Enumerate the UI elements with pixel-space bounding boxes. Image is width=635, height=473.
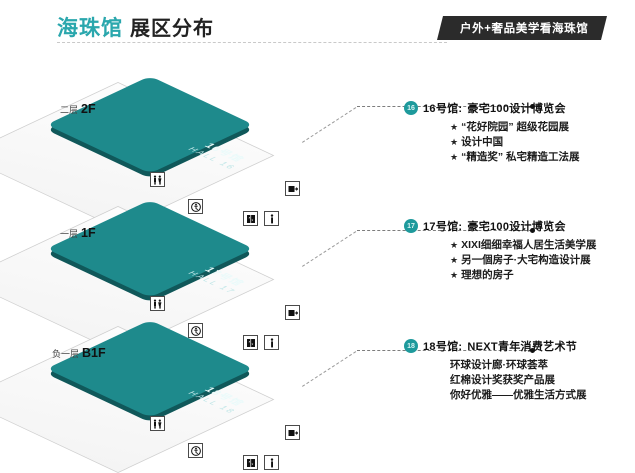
hall-legend-item-16[interactable]: 16 16号馆: 豪宅100设计博览会 ★“花好院园” 超级花园展 ★设计中国 … [404, 100, 635, 165]
hall-legend-header: 18 18号馆: NEXT青年消费艺术节 [404, 338, 635, 354]
star-icon: ★ [450, 152, 458, 162]
hall-exhibit-list: ★XIXI细细幸福人居生活美学展 ★另一個房子·大宅构造设计展 ★理想的房子 [450, 238, 635, 283]
hall-legend-item-18[interactable]: 18 18号馆: NEXT青年消费艺术节 环球设计廊·环球荟萃 红棉设计奖获奖产… [404, 338, 635, 403]
list-item: ★“精造奖” 私宅精造工法展 [450, 150, 635, 165]
star-icon: ★ [450, 255, 458, 265]
hall-title-label: NEXT青年消费艺术节 [467, 338, 577, 354]
restroom-icon[interactable] [150, 416, 165, 431]
floor-tag-cn: 负一层 [52, 349, 79, 359]
list-item: 环球设计廊·环球荟萃 [450, 358, 635, 373]
page-title: 海珠馆 展区分布 [57, 12, 214, 42]
hall-legend-item-17[interactable]: 17 17号馆: 豪宅100设计博览会 ★XIXI细细幸福人居生活美学展 ★另一… [404, 218, 635, 283]
floor-tag-code: 1F [81, 226, 96, 240]
hall-number-label: 17号馆: [423, 218, 462, 234]
list-item-label: “精造奖” 私宅精造工法展 [461, 151, 579, 163]
floor-level-1f[interactable]: 17号馆 HALL 17 一层1F [0, 180, 400, 320]
list-item-label: 设计中国 [461, 136, 503, 148]
star-icon: ★ [450, 270, 458, 280]
leader-line-diagonal [302, 231, 356, 267]
information-icon[interactable] [264, 455, 279, 470]
floor-tag-1f: 一层1F [60, 226, 96, 240]
hall-exhibit-list: ★“花好院园” 超级花园展 ★设计中国 ★“精造奖” 私宅精造工法展 [450, 120, 635, 165]
star-icon: ★ [450, 137, 458, 147]
hall-number-badge: 17 [404, 219, 418, 233]
list-item-label: 理想的房子 [461, 269, 514, 281]
floor-tag-2f: 二层2F [60, 102, 96, 116]
page-title-venue: 海珠馆 [57, 12, 123, 42]
floor-tag-code: 2F [81, 102, 96, 116]
hall-legend-header: 17 17号馆: 豪宅100设计博览会 [404, 218, 635, 234]
floor-tag-code: B1F [82, 346, 106, 360]
hall-title-label: 豪宅100设计博览会 [467, 218, 565, 234]
accessible-icon[interactable] [188, 443, 203, 458]
hall-legend-header: 16 16号馆: 豪宅100设计博览会 [404, 100, 635, 116]
hall-number-badge: 18 [404, 339, 418, 353]
list-item: 红棉设计奖获奖产品展 [450, 373, 635, 388]
floor-diagram: 16号馆 HALL 16 二层2F 17号馆 [0, 52, 400, 430]
floor-tag-cn: 一层 [60, 229, 78, 239]
title-divider [57, 42, 447, 43]
elevator-icon[interactable] [243, 455, 258, 470]
floor-tag-b1f: 负一层B1F [52, 346, 106, 360]
floor-level-b1f[interactable]: 18号馆 HALL 18 负一层B1F [0, 300, 400, 440]
list-item-label: “花好院园” 超级花园展 [461, 121, 569, 133]
list-item: ★另一個房子·大宅构造设计展 [450, 253, 635, 268]
star-icon: ★ [450, 240, 458, 250]
list-item-label: 另一個房子·大宅构造设计展 [461, 254, 591, 266]
hall-title-label: 豪宅100设计博览会 [467, 100, 565, 116]
hall-number-label: 18号馆: [423, 338, 462, 354]
hall-number-label: 16号馆: [423, 100, 462, 116]
hall-exhibit-list: 环球设计廊·环球荟萃 红棉设计奖获奖产品展 你好优雅——优雅生活方式展 [450, 358, 635, 403]
floor-tag-cn: 二层 [60, 105, 78, 115]
page-title-section: 展区分布 [130, 12, 214, 41]
list-item: ★理想的房子 [450, 268, 635, 283]
list-item-label: XIXI细细幸福人居生活美学展 [461, 239, 596, 251]
list-item: ★设计中国 [450, 135, 635, 150]
list-item: ★“花好院园” 超级花园展 [450, 120, 635, 135]
hall-number-badge: 16 [404, 101, 418, 115]
floor-level-2f[interactable]: 16号馆 HALL 16 二层2F [0, 56, 400, 196]
hall-legend-panel: 16 16号馆: 豪宅100设计博览会 ★“花好院园” 超级花园展 ★设计中国 … [404, 0, 635, 430]
star-icon: ★ [450, 122, 458, 132]
list-item: 你好优雅——优雅生活方式展 [450, 388, 635, 403]
exit-icon[interactable] [285, 425, 300, 440]
leader-line-diagonal [302, 107, 356, 143]
list-item: ★XIXI细细幸福人居生活美学展 [450, 238, 635, 253]
leader-line-diagonal [302, 351, 356, 387]
